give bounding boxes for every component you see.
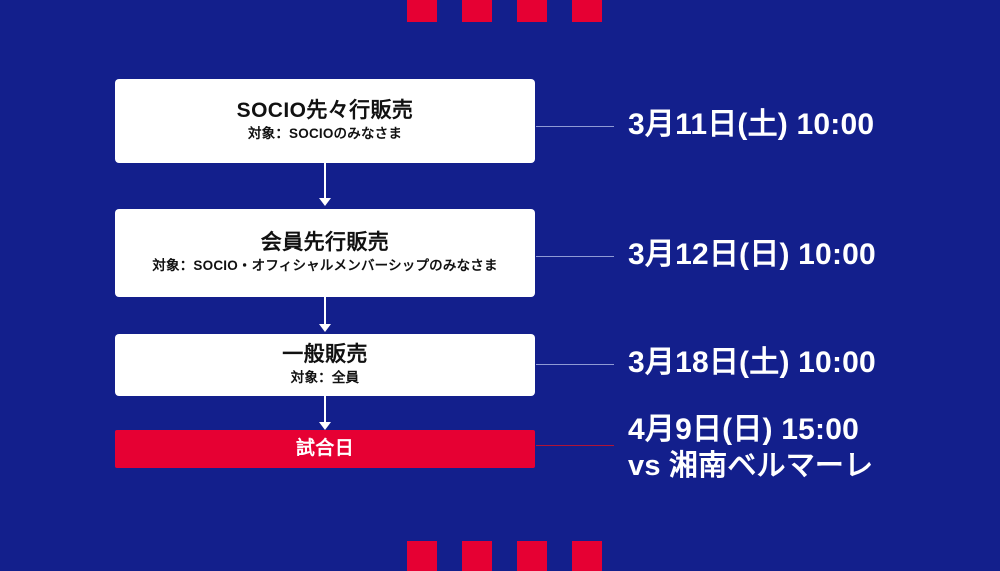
arrow-head-3 <box>319 422 331 430</box>
step-subtitle: 対象：SOCIOのみなさま <box>248 126 402 143</box>
date-general-sale: 3月18日(土) 10:00 <box>628 345 876 382</box>
date-text: 4月9日(日) 15:00 <box>628 412 873 449</box>
deco-square-bottom-1 <box>407 541 437 571</box>
date-text: 3月12日(日) 10:00 <box>628 237 876 274</box>
arrow-head-2 <box>319 324 331 332</box>
step-box-general-sale: 一般販売 対象：全員 <box>115 334 535 396</box>
step-box-socio-advance: SOCIO先々行販売 対象：SOCIOのみなさま <box>115 79 535 163</box>
ticket-sales-timeline: SOCIO先々行販売 対象：SOCIOのみなさま 会員先行販売 対象：SOCIO… <box>0 0 1000 563</box>
connector-line-2 <box>536 256 614 257</box>
bottom-decoration-strip <box>0 533 1000 563</box>
date-socio-advance: 3月11日(土) 10:00 <box>628 107 874 144</box>
match-opponent-text: vs 湘南ベルマーレ <box>628 449 873 484</box>
arrow-connector-1 <box>324 163 326 201</box>
arrow-connector-2 <box>324 297 326 327</box>
step-title: 一般販売 <box>282 343 368 368</box>
step-subtitle: 対象：SOCIO・オフィシャルメンバーシップのみなさま <box>152 258 497 275</box>
deco-square-bottom-2 <box>462 541 492 571</box>
step-box-match-day: 試合日 <box>115 430 535 468</box>
arrow-head-1 <box>319 198 331 206</box>
step-subtitle: 対象：全員 <box>291 370 360 387</box>
deco-square-bottom-3 <box>517 541 547 571</box>
connector-line-4 <box>536 445 614 446</box>
connector-line-3 <box>536 364 614 365</box>
step-title: SOCIO先々行販売 <box>237 99 414 124</box>
date-text: 3月11日(土) 10:00 <box>628 107 874 144</box>
step-title: 会員先行販売 <box>261 231 389 256</box>
step-title: 試合日 <box>296 438 354 460</box>
date-match-day: 4月9日(日) 15:00 vs 湘南ベルマーレ <box>628 412 873 484</box>
deco-square-bottom-4 <box>572 541 602 571</box>
connector-line-1 <box>536 126 614 127</box>
step-box-member-advance: 会員先行販売 対象：SOCIO・オフィシャルメンバーシップのみなさま <box>115 209 535 297</box>
date-member-advance: 3月12日(日) 10:00 <box>628 237 876 274</box>
date-text: 3月18日(土) 10:00 <box>628 345 876 382</box>
